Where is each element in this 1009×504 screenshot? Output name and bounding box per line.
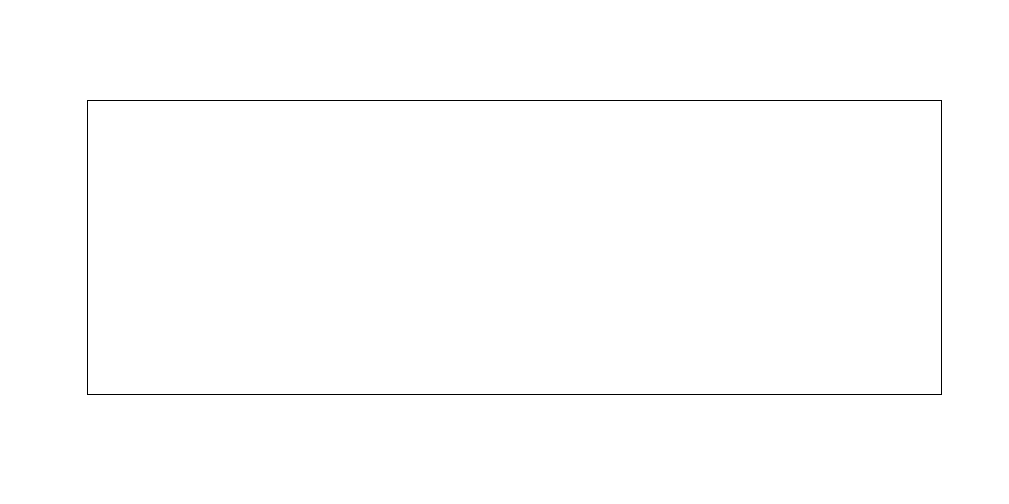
metadata-depth	[86, 90, 91, 99]
plot-area	[87, 100, 942, 395]
top-axis-ticks	[88, 101, 941, 111]
metadata-longitude	[86, 38, 91, 47]
y-axis	[0, 100, 87, 395]
metadata-latitude	[86, 64, 91, 73]
series-canvas	[88, 101, 941, 394]
chart-legend	[0, 450, 1009, 472]
x-axis	[87, 395, 942, 445]
